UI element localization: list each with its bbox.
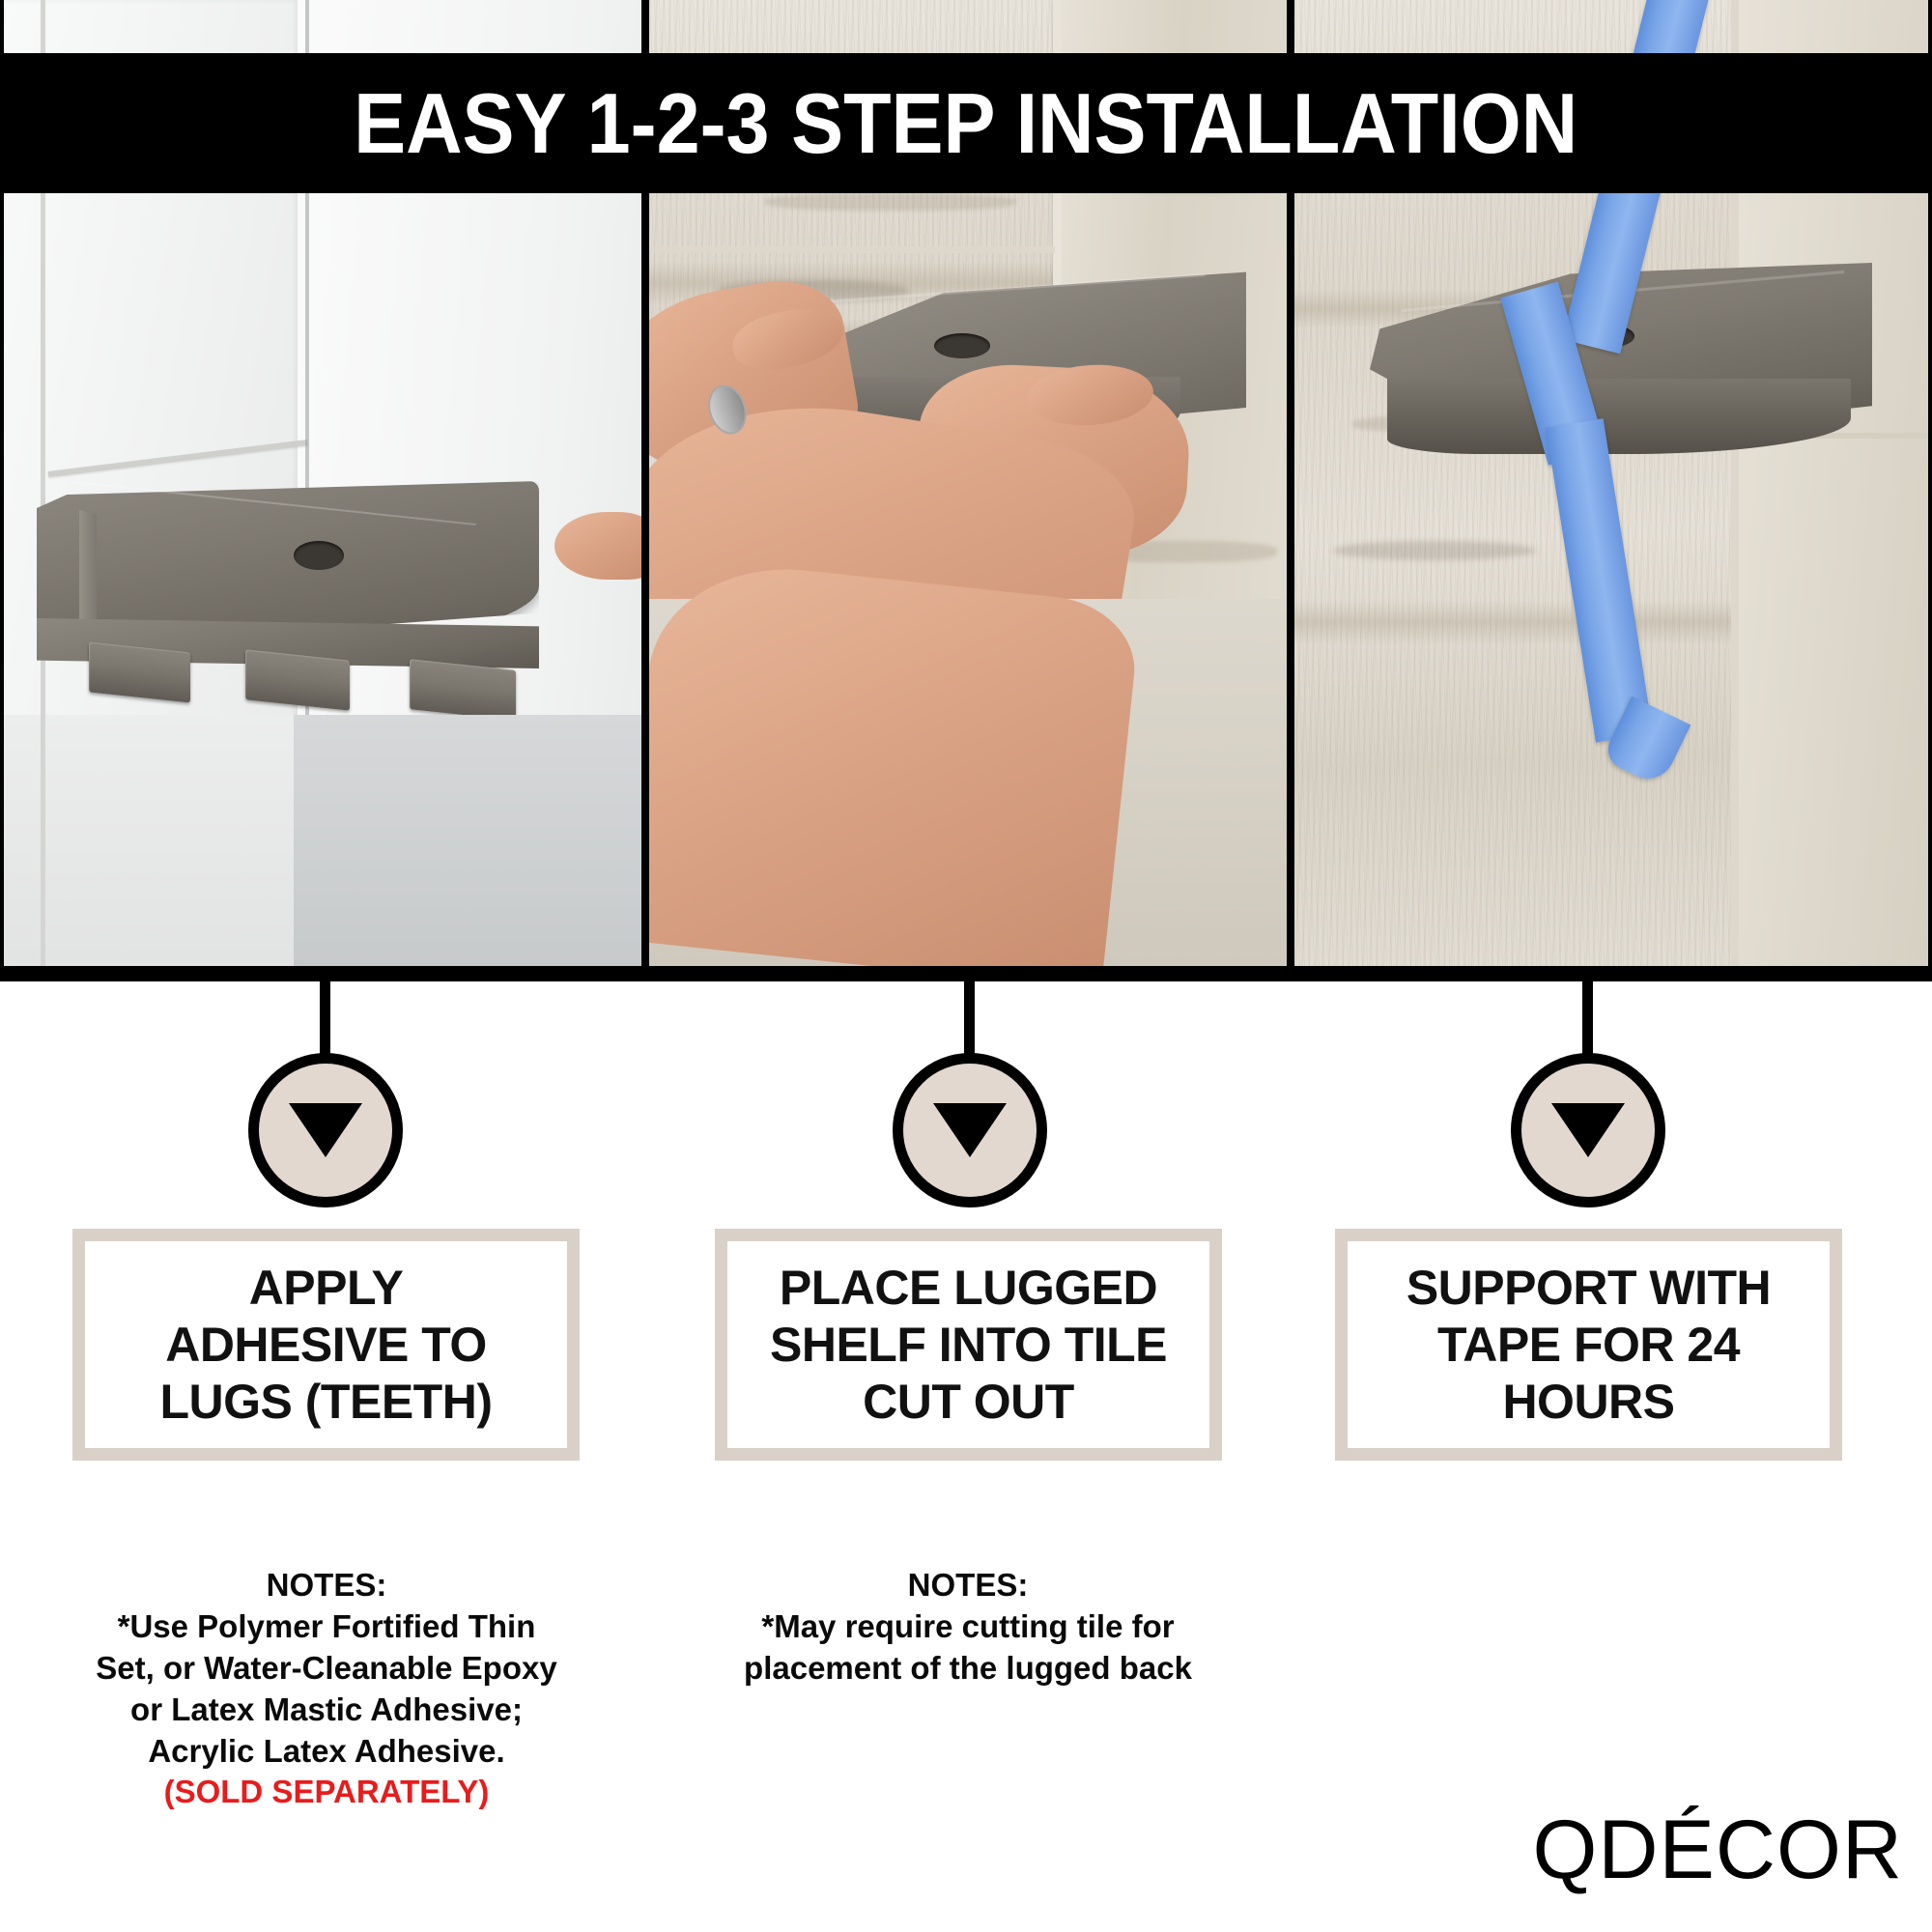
connector-line-step-2 xyxy=(964,976,975,1058)
triangle-down-icon xyxy=(933,1103,1007,1157)
caption-line: APPLY xyxy=(160,1260,493,1317)
caption-line: CUT OUT xyxy=(770,1374,1167,1431)
page-title: EASY 1-2-3 STEP INSTALLATION xyxy=(354,74,1577,173)
caption-box-step-3: SUPPORT WITH TAPE FOR 24 HOURS xyxy=(1335,1229,1842,1461)
forearm-lower xyxy=(649,555,1142,966)
notes-highlight: (SOLD SEPARATELY) xyxy=(56,1772,597,1813)
grout-line-horizontal xyxy=(649,246,1055,253)
brand-logo: QDÉCOR xyxy=(1533,1803,1903,1898)
shelf-lug xyxy=(89,641,190,702)
caption-line: LUGS (TEETH) xyxy=(160,1374,493,1431)
caption-text-step-1: APPLY ADHESIVE TO LUGS (TEETH) xyxy=(160,1260,493,1431)
notes-heading: NOTES: xyxy=(56,1565,597,1606)
shadowed-wall-face xyxy=(294,715,641,966)
notes-line: *May require cutting tile for xyxy=(697,1606,1238,1648)
arrow-circle-step-2 xyxy=(893,1053,1047,1207)
strip-bottom-rule xyxy=(0,966,1932,981)
title-banner: EASY 1-2-3 STEP INSTALLATION xyxy=(0,53,1932,193)
caption-text-step-3: SUPPORT WITH TAPE FOR 24 HOURS xyxy=(1406,1260,1771,1431)
caption-line: TAPE FOR 24 xyxy=(1406,1317,1771,1374)
caption-line: ADHESIVE TO xyxy=(160,1317,493,1374)
triangle-down-icon xyxy=(289,1103,362,1157)
notes-heading: NOTES: xyxy=(697,1565,1238,1606)
caption-line: PLACE LUGGED xyxy=(770,1260,1167,1317)
shelf-drain-hole xyxy=(934,333,990,358)
shelf-drain-hole xyxy=(294,541,344,570)
connector-line-step-1 xyxy=(320,976,330,1058)
shelf-front-lip xyxy=(1387,379,1851,454)
caption-line: SUPPORT WITH xyxy=(1406,1260,1771,1317)
notes-step-2: NOTES: *May require cutting tile for pla… xyxy=(697,1565,1238,1690)
arrow-circle-step-1 xyxy=(248,1053,403,1207)
connector-line-step-3 xyxy=(1582,976,1593,1058)
notes-step-1: NOTES: *Use Polymer Fortified Thin Set, … xyxy=(56,1565,597,1813)
caption-line: SHELF INTO TILE xyxy=(770,1317,1167,1374)
arrow-circle-step-3 xyxy=(1511,1053,1665,1207)
notes-line: *Use Polymer Fortified Thin xyxy=(56,1606,597,1648)
triangle-down-icon xyxy=(1551,1103,1625,1157)
caption-line: HOURS xyxy=(1406,1374,1771,1431)
tile-streak xyxy=(765,193,1016,211)
notes-line: Set, or Water-Cleanable Epoxy xyxy=(56,1648,597,1690)
notes-line: Acrylic Latex Adhesive. xyxy=(56,1731,597,1773)
caption-box-step-2: PLACE LUGGED SHELF INTO TILE CUT OUT xyxy=(715,1229,1222,1461)
tile-mottle xyxy=(1333,541,1536,560)
caption-box-step-1: APPLY ADHESIVE TO LUGS (TEETH) xyxy=(72,1229,580,1461)
caption-text-step-2: PLACE LUGGED SHELF INTO TILE CUT OUT xyxy=(770,1260,1167,1431)
notes-line: placement of the lugged back xyxy=(697,1648,1238,1690)
grout-line-vertical xyxy=(41,715,45,966)
notes-line: or Latex Mastic Adhesive; xyxy=(56,1690,597,1731)
